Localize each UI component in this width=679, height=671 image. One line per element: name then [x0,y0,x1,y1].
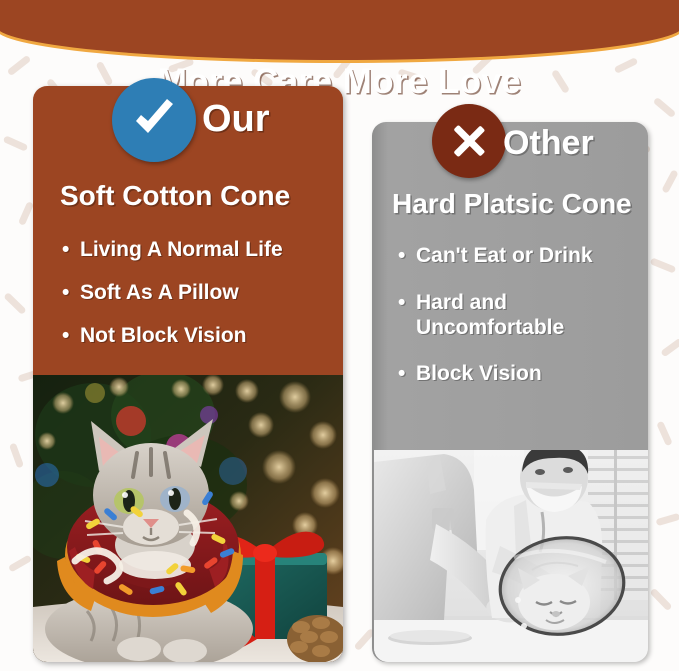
sprinkle-shape [3,292,27,315]
feature-list-our: Living A Normal Life Soft As A Pillow No… [62,238,342,366]
cat-donut-cone-illustration [33,375,343,662]
infographic-root: More Care More Love [0,0,679,671]
list-item: Not Block Vision [62,324,342,349]
column-title-our: Our [202,98,270,141]
sprinkle-shape [661,169,678,193]
list-item: Living A Normal Life [62,238,342,263]
list-item: Hard and Uncomfortable [398,291,646,341]
cross-icon [432,104,506,178]
check-icon [112,78,196,162]
sprinkle-shape [3,135,29,152]
sprinkle-shape [18,201,34,226]
sprinkle-shape [650,257,677,273]
list-item: Soft As A Pillow [62,281,342,306]
vet-clinic-illustration [374,450,648,662]
cross-glyph [448,120,490,162]
sprinkle-shape [9,443,24,469]
sprinkle-shape [649,588,672,612]
column-subtitle-other: Hard Platsic Cone [392,188,632,220]
photo-our-soft-cone [33,375,343,662]
sprinkle-shape [656,421,673,447]
column-subtitle-our: Soft Cotton Cone [60,180,290,212]
sprinkle-shape [8,554,32,572]
feature-list-other: Can't Eat or Drink Hard and Uncomfortabl… [398,244,646,409]
column-title-other: Other [503,124,594,163]
sprinkle-shape [660,338,679,358]
list-item: Block Vision [398,362,646,387]
list-item: Can't Eat or Drink [398,244,646,269]
check-glyph [128,94,180,146]
photo-other-hard-cone [374,450,648,662]
sprinkle-shape [656,513,679,526]
